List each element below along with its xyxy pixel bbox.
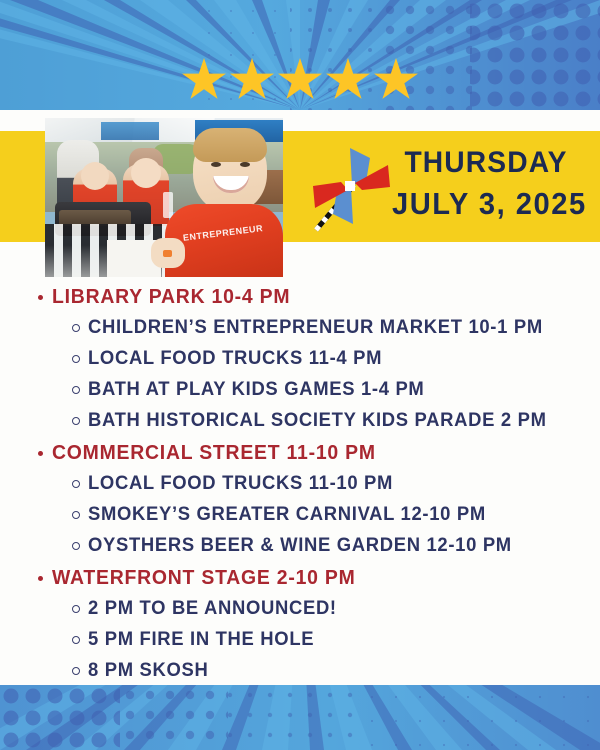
schedule-item: BATH HISTORICAL SOCIETY KIDS PARADE 2 PM xyxy=(0,405,600,436)
star-icon xyxy=(230,58,274,102)
sub-bullet-icon xyxy=(72,667,80,675)
sub-bullet-icon xyxy=(72,542,80,550)
schedule-group: LIBRARY PARK 10-4 PMCHILDREN’S ENTREPREN… xyxy=(0,282,600,436)
star-icon xyxy=(374,58,418,102)
schedule-item: 5 PM FIRE IN THE HOLE xyxy=(0,624,600,655)
sub-bullet-icon xyxy=(72,636,80,644)
date-full: JULY 3, 2025 xyxy=(392,183,580,224)
bullet-icon xyxy=(38,295,43,300)
schedule-item: CHILDREN’S ENTREPRENEUR MARKET 10-1 PM xyxy=(0,312,600,343)
sub-bullet-icon xyxy=(72,417,80,425)
schedule-item: OYSTHERS BEER & WINE GARDEN 12-10 PM xyxy=(0,530,600,561)
star-icon xyxy=(326,58,370,102)
date-weekday: THURSDAY xyxy=(392,142,580,183)
sub-bullet-icon xyxy=(72,386,80,394)
bullet-icon xyxy=(38,451,43,456)
schedule-item-label: LOCAL FOOD TRUCKS 11-4 PM xyxy=(88,348,382,370)
schedule-item-label: SMOKEY’S GREATER CARNIVAL 12-10 PM xyxy=(88,504,486,526)
schedule-group: WATERFRONT STAGE 2-10 PM2 PM TO BE ANNOU… xyxy=(0,563,600,686)
childrens-entrepreneur-market-photo: ENTREPRENEUR xyxy=(45,118,283,277)
sub-bullet-icon xyxy=(72,480,80,488)
schedule-item: 8 PM SKOSH xyxy=(0,655,600,686)
schedule-item: LOCAL FOOD TRUCKS 11-4 PM xyxy=(0,343,600,374)
bullet-icon xyxy=(38,576,43,581)
schedule-item-label: CHILDREN’S ENTREPRENEUR MARKET 10-1 PM xyxy=(88,317,543,339)
star-icon xyxy=(182,58,226,102)
schedule-item-label: 8 PM SKOSH xyxy=(88,660,208,682)
schedule-item: LOCAL FOOD TRUCKS 11-10 PM xyxy=(0,468,600,499)
schedule-item: 2 PM TO BE ANNOUNCED! xyxy=(0,593,600,624)
schedule-group-header: LIBRARY PARK 10-4 PM xyxy=(0,282,600,312)
top-comic-banner xyxy=(0,0,600,110)
schedule-item-label: OYSTHERS BEER & WINE GARDEN 12-10 PM xyxy=(88,535,512,557)
schedule-group-title: COMMERCIAL STREET 11-10 PM xyxy=(52,442,376,465)
event-schedule-list: LIBRARY PARK 10-4 PMCHILDREN’S ENTREPREN… xyxy=(0,282,600,688)
schedule-group-header: WATERFRONT STAGE 2-10 PM xyxy=(0,563,600,593)
star-rating-row xyxy=(0,58,600,102)
schedule-item-label: 2 PM TO BE ANNOUNCED! xyxy=(88,598,337,620)
schedule-item-label: BATH AT PLAY KIDS GAMES 1-4 PM xyxy=(88,379,424,401)
pinwheel-icon xyxy=(304,138,390,236)
sub-bullet-icon xyxy=(72,511,80,519)
schedule-item-label: LOCAL FOOD TRUCKS 11-10 PM xyxy=(88,473,393,495)
schedule-item-label: 5 PM FIRE IN THE HOLE xyxy=(88,629,314,651)
sub-bullet-icon xyxy=(72,324,80,332)
bottom-comic-banner xyxy=(0,685,600,750)
schedule-item-label: BATH HISTORICAL SOCIETY KIDS PARADE 2 PM xyxy=(88,410,547,432)
schedule-group-title: WATERFRONT STAGE 2-10 PM xyxy=(52,567,356,590)
schedule-item: SMOKEY’S GREATER CARNIVAL 12-10 PM xyxy=(0,499,600,530)
sub-bullet-icon xyxy=(72,355,80,363)
schedule-group-title: LIBRARY PARK 10-4 PM xyxy=(52,286,290,309)
sub-bullet-icon xyxy=(72,605,80,613)
star-icon xyxy=(278,58,322,102)
schedule-item: BATH AT PLAY KIDS GAMES 1-4 PM xyxy=(0,374,600,405)
event-date-block: THURSDAY JULY 3, 2025 xyxy=(386,142,586,224)
comic-rays-graphic xyxy=(0,685,600,750)
schedule-group: COMMERCIAL STREET 11-10 PMLOCAL FOOD TRU… xyxy=(0,438,600,561)
schedule-group-header: COMMERCIAL STREET 11-10 PM xyxy=(0,438,600,468)
